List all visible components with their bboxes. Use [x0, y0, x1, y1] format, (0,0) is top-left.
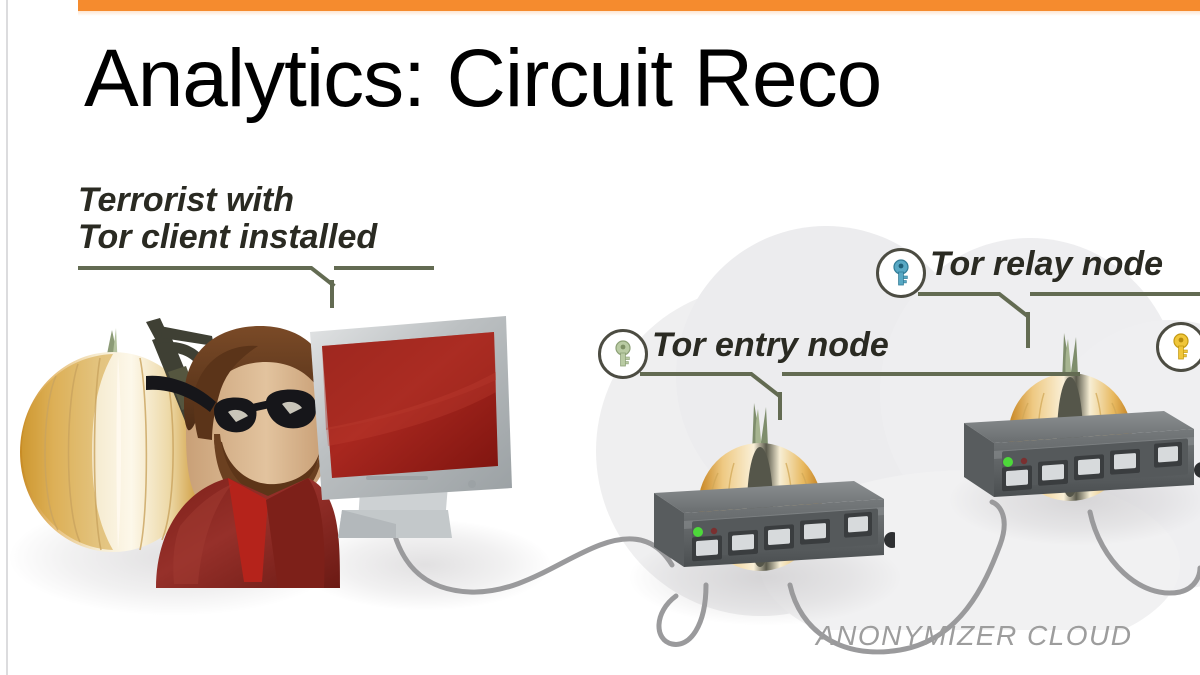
lcd-monitor — [300, 310, 530, 600]
callout-line-entry — [782, 372, 1080, 376]
callout-label-relay-node: Tor relay node — [930, 246, 1163, 283]
slide-canvas: Analytics: Circuit Reco — [0, 0, 1200, 675]
router-chassis — [654, 481, 895, 567]
callout-line-relay — [1030, 292, 1200, 296]
callout-line-relay — [1026, 312, 1030, 348]
callout-line-relay — [918, 292, 1000, 296]
accent-bar-shadow — [78, 11, 1200, 16]
callout-line-entry — [640, 372, 752, 376]
callout-label-entry-node: Tor entry node — [652, 327, 889, 364]
key-icon — [876, 248, 926, 298]
terrorist-figure — [0, 300, 340, 600]
accent-bar — [78, 0, 1200, 11]
tor-entry-node-device — [640, 395, 895, 625]
key-icon — [1156, 322, 1200, 372]
callout-line-terrorist — [334, 266, 434, 270]
callout-label-terrorist: Terrorist with Tor client installed — [78, 182, 377, 255]
anonymizer-cloud-label: ANONYMIZER CLOUD — [816, 620, 1132, 652]
page-title: Analytics: Circuit Reco — [84, 33, 881, 125]
router-chassis — [964, 411, 1200, 497]
callout-line-terrorist — [78, 266, 312, 270]
key-icon — [598, 329, 648, 379]
callout-line-entry — [778, 392, 782, 420]
callout-line-terrorist — [330, 280, 334, 308]
